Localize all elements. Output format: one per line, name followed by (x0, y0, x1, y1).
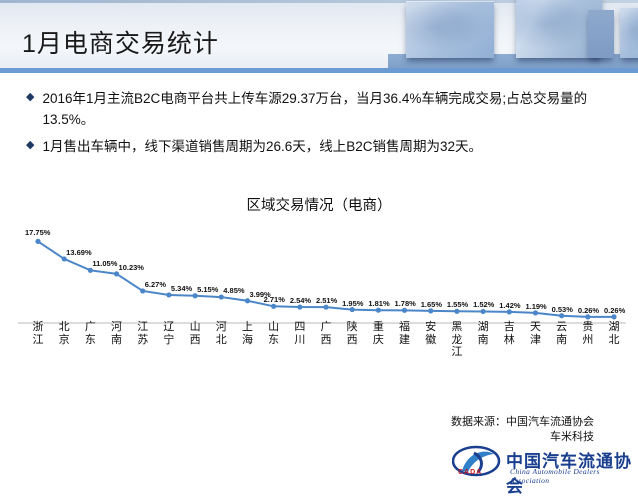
chart-data-point (507, 309, 512, 314)
chart-data-label: 2.71% (264, 295, 285, 304)
logo-abbr: CADA (458, 469, 482, 476)
chart-data-point (297, 304, 302, 309)
cube-icon-2-side (588, 10, 614, 58)
chart-data-label: 0.26% (604, 306, 625, 315)
chart-data-point (88, 268, 93, 273)
chart-x-tick-label: 陕西 (343, 321, 361, 346)
chart-data-label: 5.34% (171, 284, 192, 293)
chart-x-tick-label: 河北 (212, 321, 230, 346)
chart-x-tick-label: 河南 (108, 321, 126, 346)
chart-data-label: 1.65% (421, 300, 442, 309)
chart-data-label: 1.42% (499, 301, 520, 310)
chart-data-label: 1.95% (342, 299, 363, 308)
chart-x-tick-label: 广东 (81, 321, 99, 346)
chart-x-tick-label: 山西 (186, 321, 204, 346)
chart-data-point (62, 256, 67, 261)
chart-data-label: 2.54% (290, 296, 311, 305)
logo-name-en: China Automobile Dealers Association (510, 467, 632, 485)
chart-x-tick-label: 浙江 (29, 321, 47, 346)
chart-data-label: 1.81% (368, 299, 389, 308)
chart-x-tick-label: 天津 (526, 321, 544, 346)
chart-title: 区域交易情况（电商） (0, 194, 638, 215)
chart-data-label: 2.51% (316, 296, 337, 305)
diamond-bullet-icon: ◆ (26, 136, 34, 154)
chart-x-tick-label: 重庆 (369, 321, 387, 346)
chart-data-label: 4.85% (223, 286, 244, 295)
chart-data-label: 1.55% (447, 300, 468, 309)
chart-x-tick-label: 四川 (291, 321, 309, 346)
chart-data-point (402, 308, 407, 313)
source-line-1: 数据来源：中国汽车流通协会 (451, 415, 594, 430)
chart-data-label: 0.26% (578, 306, 599, 315)
chart-data-label: 11.05% (92, 259, 117, 268)
source-line-2: 车米科技 (451, 430, 594, 445)
chart-x-tick-label: 安徽 (422, 321, 440, 346)
chart-data-point (480, 309, 485, 314)
cube-icon-3 (620, 7, 638, 58)
chart-x-tick-label: 山东 (265, 321, 283, 346)
chart-data-point (350, 307, 355, 312)
chart-data-point (323, 305, 328, 310)
chart-x-axis-labels: 浙江北京广东河南江苏辽宁山西河北上海山东四川广西陕西重庆福建安徽黑龙江湖南吉林天… (0, 321, 638, 377)
chart-data-label: 10.23% (119, 263, 144, 272)
chart-data-label: 1.78% (395, 299, 416, 308)
chart-x-tick-label: 江苏 (134, 321, 152, 346)
chart-data-point (140, 288, 145, 293)
chart-data-label: 6.27% (145, 280, 166, 289)
chart-data-point (428, 308, 433, 313)
chart-x-tick-label: 云南 (553, 321, 571, 346)
chart-x-tick-label: 广西 (317, 321, 335, 346)
chart-data-point (585, 314, 590, 319)
chart-data-label: 5.15% (197, 285, 218, 294)
data-source-note: 数据来源：中国汽车流通协会 车米科技 (451, 415, 594, 445)
chart-x-tick-label: 湖北 (605, 321, 623, 346)
chart-data-point (219, 294, 224, 299)
chart-data-label: 13.69% (66, 248, 91, 257)
chart-x-tick-label: 上海 (238, 321, 256, 346)
chart-data-label: 1.19% (525, 302, 546, 311)
chart-data-point (271, 304, 276, 309)
chart-data-point (114, 271, 119, 276)
bullet-text: 1月售出车辆中，线下渠道销售周期为26.6天，线上B2C销售周期为32天。 (42, 136, 482, 157)
diamond-bullet-icon: ◆ (26, 88, 34, 106)
chart-data-point (166, 292, 171, 297)
chart-x-tick-label: 福建 (396, 321, 414, 346)
chart-data-point (559, 313, 564, 318)
chart-x-tick-label: 北京 (55, 321, 73, 346)
slide-header: 1月电商交易统计 (0, 0, 638, 68)
chart-data-label: 1.52% (473, 300, 494, 309)
list-item: ◆ 1月售出车辆中，线下渠道销售周期为26.6天，线上B2C销售周期为32天。 (26, 136, 618, 157)
chart-x-tick-label: 辽宁 (160, 321, 178, 346)
chart-data-point (454, 309, 459, 314)
chart-x-tick-label: 湖南 (474, 321, 492, 346)
chart-data-point (35, 239, 40, 244)
chart-data-point (376, 308, 381, 313)
header-decorative-cubes (388, 0, 638, 68)
cada-logo: CADA 中国汽车流通协会 China Automobile Dealers A… (452, 445, 632, 481)
page-title: 1月电商交易统计 (22, 24, 219, 60)
chart-x-tick-label: 贵州 (579, 321, 597, 346)
chart-data-point (245, 298, 250, 303)
header-accent-band (0, 68, 638, 73)
chart-x-tick-label: 吉林 (500, 321, 518, 346)
chart-data-point (533, 310, 538, 315)
chart-data-point (192, 293, 197, 298)
chart-x-tick-label: 黑龙江 (448, 321, 466, 359)
list-item: ◆ 2016年1月主流B2C电商平台共上传车源29.37万台，当月36.4%车辆… (26, 88, 618, 130)
chart-data-point (611, 314, 616, 319)
chart-data-label: 0.53% (552, 305, 573, 314)
chart-data-label: 17.75% (25, 228, 50, 237)
bullet-list: ◆ 2016年1月主流B2C电商平台共上传车源29.37万台，当月36.4%车辆… (26, 88, 618, 163)
cube-icon-1 (406, 1, 494, 58)
bullet-text: 2016年1月主流B2C电商平台共上传车源29.37万台，当月36.4%车辆完成… (42, 88, 618, 130)
